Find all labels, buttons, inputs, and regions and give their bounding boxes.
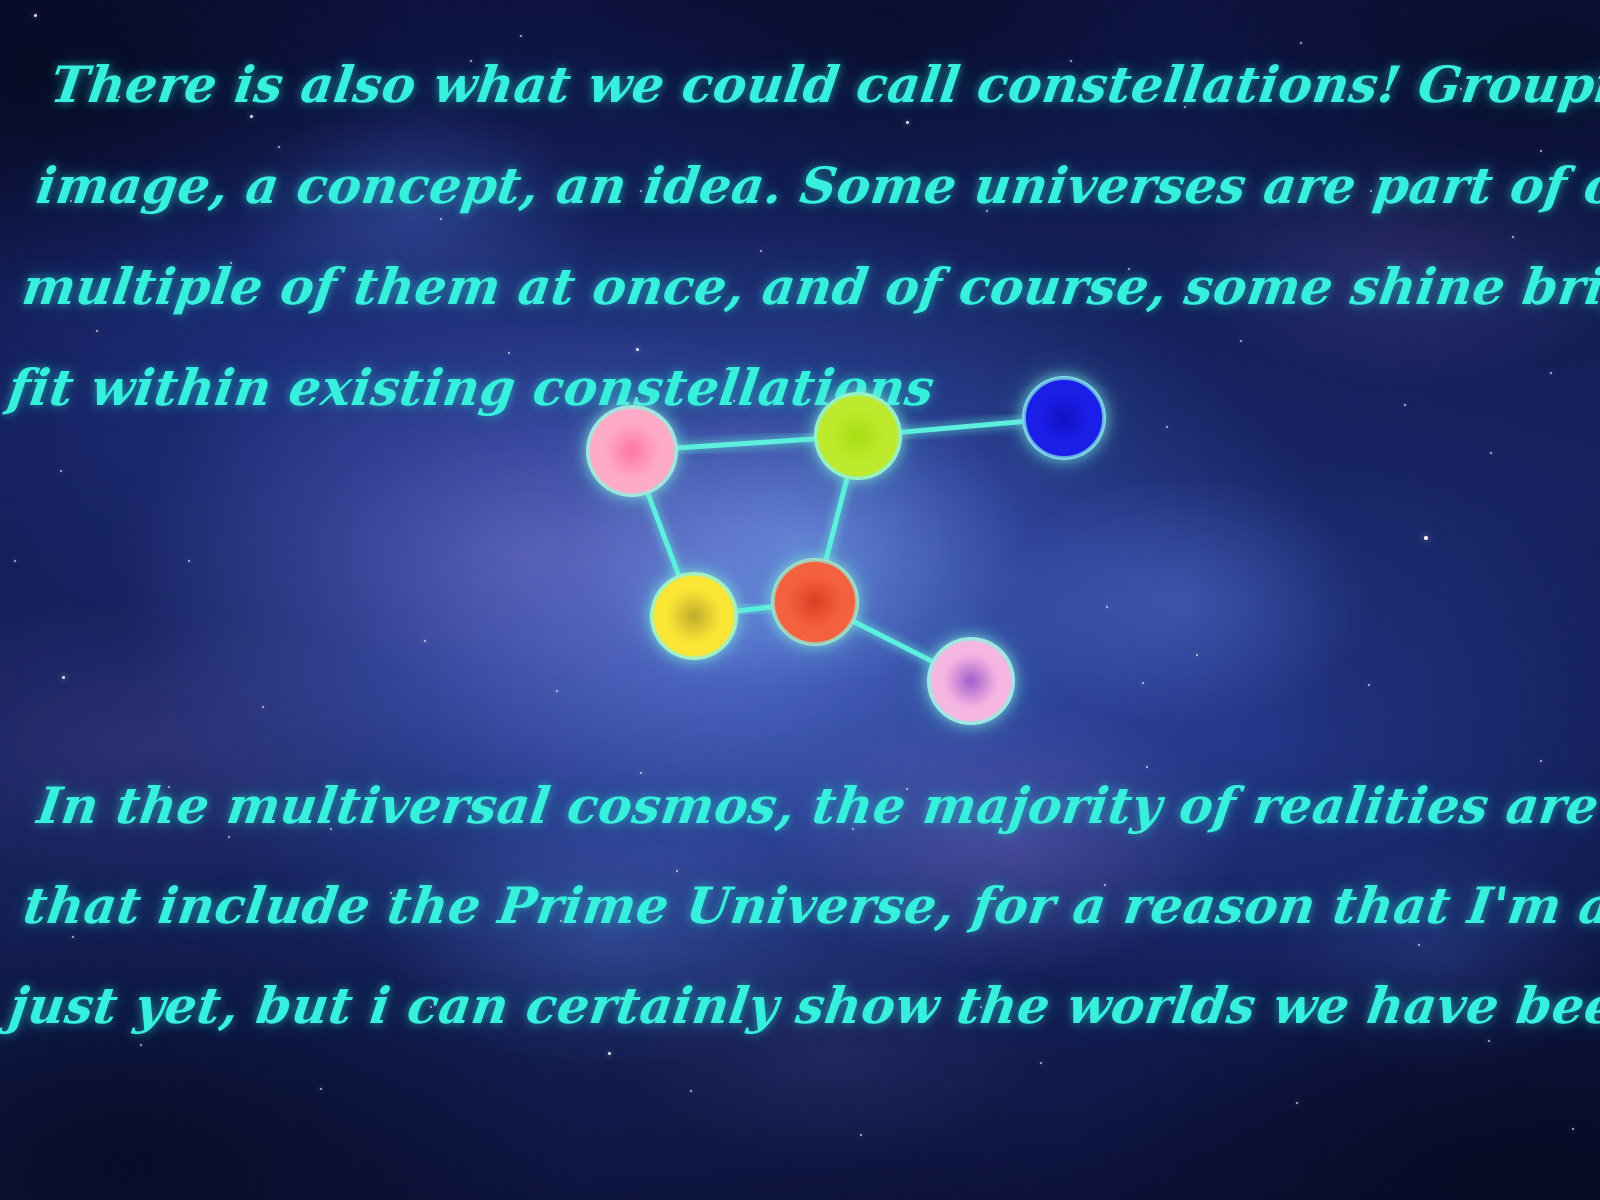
universe-node-lime[interactable] — [814, 392, 902, 480]
universe-node-core — [1026, 380, 1102, 456]
constellation-edge — [647, 491, 679, 577]
universe-node-blue[interactable] — [1022, 376, 1106, 460]
universe-node-orange[interactable] — [771, 558, 859, 646]
universe-node-core — [818, 396, 898, 476]
paragraph-bottom: In the multiversal cosmos, the majority … — [3, 756, 1600, 1056]
paragraph-bottom-line-1: In the multiversal cosmos, the majority … — [31, 756, 1600, 856]
universe-node-pink[interactable] — [586, 405, 678, 497]
universe-node-yellow[interactable] — [650, 572, 738, 660]
universe-node-core — [654, 576, 734, 656]
paragraph-bottom-line-2: that include the Prime Universe, for a r… — [17, 856, 1600, 956]
paragraph-bottom-line-3: just yet, but i can certainly show the w… — [3, 956, 1600, 1056]
constellation-edge — [675, 439, 817, 448]
universe-node-core — [590, 409, 674, 493]
constellation-edge — [852, 621, 935, 663]
constellation-edge — [899, 421, 1025, 432]
universe-node-core — [775, 562, 855, 642]
constellation-edge — [825, 476, 847, 563]
scene-canvas: There is also what we could call constel… — [0, 0, 1600, 1200]
universe-node-violet[interactable] — [927, 637, 1015, 725]
universe-node-core — [931, 641, 1011, 721]
constellation-edge — [735, 607, 775, 612]
